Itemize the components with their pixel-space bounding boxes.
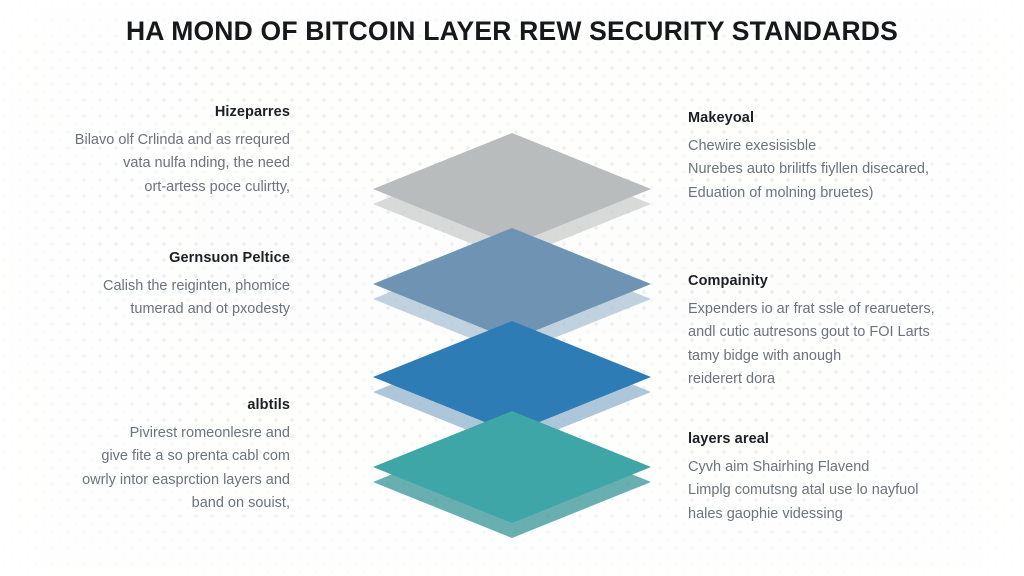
text-line: Calish the reiginten, phomice [0, 275, 290, 298]
layered-stack-diagram [373, 133, 651, 523]
right-block-3-body: Cyvh aim Shairhing Flavend Limplg comuts… [688, 456, 1018, 526]
left-block-2: Gernsuon Peltice Calish the reiginten, p… [0, 250, 290, 322]
text-line: Expenders io ar frat ssle of rearueters, [688, 298, 1018, 321]
text-line: give fite a so prenta cabl com [0, 445, 290, 468]
text-line: Chewire exesisisble [688, 135, 1018, 158]
text-line: tumerad and ot pxodesty [0, 298, 290, 321]
right-block-2: Compainity Expenders io ar frat ssle of … [688, 273, 1018, 392]
text-line: vata nulfa nding, the need [0, 152, 290, 175]
page-title: HA MOND OF BITCOIN LAYER REW SECURITY ST… [0, 16, 1024, 47]
stack-layer-4 [373, 411, 651, 551]
text-line: Eduation of molning bruetes) [688, 182, 1018, 205]
left-block-2-body: Calish the reiginten, phomice tumerad an… [0, 275, 290, 322]
stack-layer-4-plate [373, 411, 651, 523]
right-block-2-body: Expenders io ar frat ssle of rearueters,… [688, 298, 1018, 392]
left-block-3: albtils Pivirest romeonlesre and give fi… [0, 397, 290, 516]
text-line: ort-artess poce culirtty, [0, 176, 290, 199]
right-block-3-heading: layers areal [688, 431, 1018, 447]
right-block-1-heading: Makeyoal [688, 110, 1018, 126]
text-line: owrly intor easprction layers and [0, 469, 290, 492]
left-block-3-body: Pivirest romeonlesre and give fite a so … [0, 422, 290, 516]
left-block-2-heading: Gernsuon Peltice [0, 250, 290, 266]
left-block-3-heading: albtils [0, 397, 290, 413]
right-block-2-heading: Compainity [688, 273, 1018, 289]
right-block-1: Makeyoal Chewire exesisisble Nurebes aut… [688, 110, 1018, 205]
left-block-1-body: Bilavo olf Crlinda and as rrequred vata … [0, 129, 290, 199]
left-block-1: Hizeparres Bilavo olf Crlinda and as rre… [0, 104, 290, 199]
text-line: Bilavo olf Crlinda and as rrequred [0, 129, 290, 152]
text-line: hales gaophie videssing [688, 503, 1018, 526]
text-line: band on souist, [0, 492, 290, 515]
text-line: reiderert dora [688, 368, 1018, 391]
diagram-canvas: HA MOND OF BITCOIN LAYER REW SECURITY ST… [0, 0, 1024, 576]
text-line: Limplg comutsng atal use lo nayfuol [688, 479, 1018, 502]
text-line: Pivirest romeonlesre and [0, 422, 290, 445]
text-line: tamy bidge with anough [688, 345, 1018, 368]
right-block-3: layers areal Cyvh aim Shairhing Flavend … [688, 431, 1018, 526]
text-line: Nurebes auto brilitfs fiyllen disecared, [688, 158, 1018, 181]
text-line: Cyvh aim Shairhing Flavend [688, 456, 1018, 479]
left-block-1-heading: Hizeparres [0, 104, 290, 120]
text-line: andl cutic autresons gout to FOI Larts [688, 321, 1018, 344]
right-block-1-body: Chewire exesisisble Nurebes auto brilitf… [688, 135, 1018, 205]
